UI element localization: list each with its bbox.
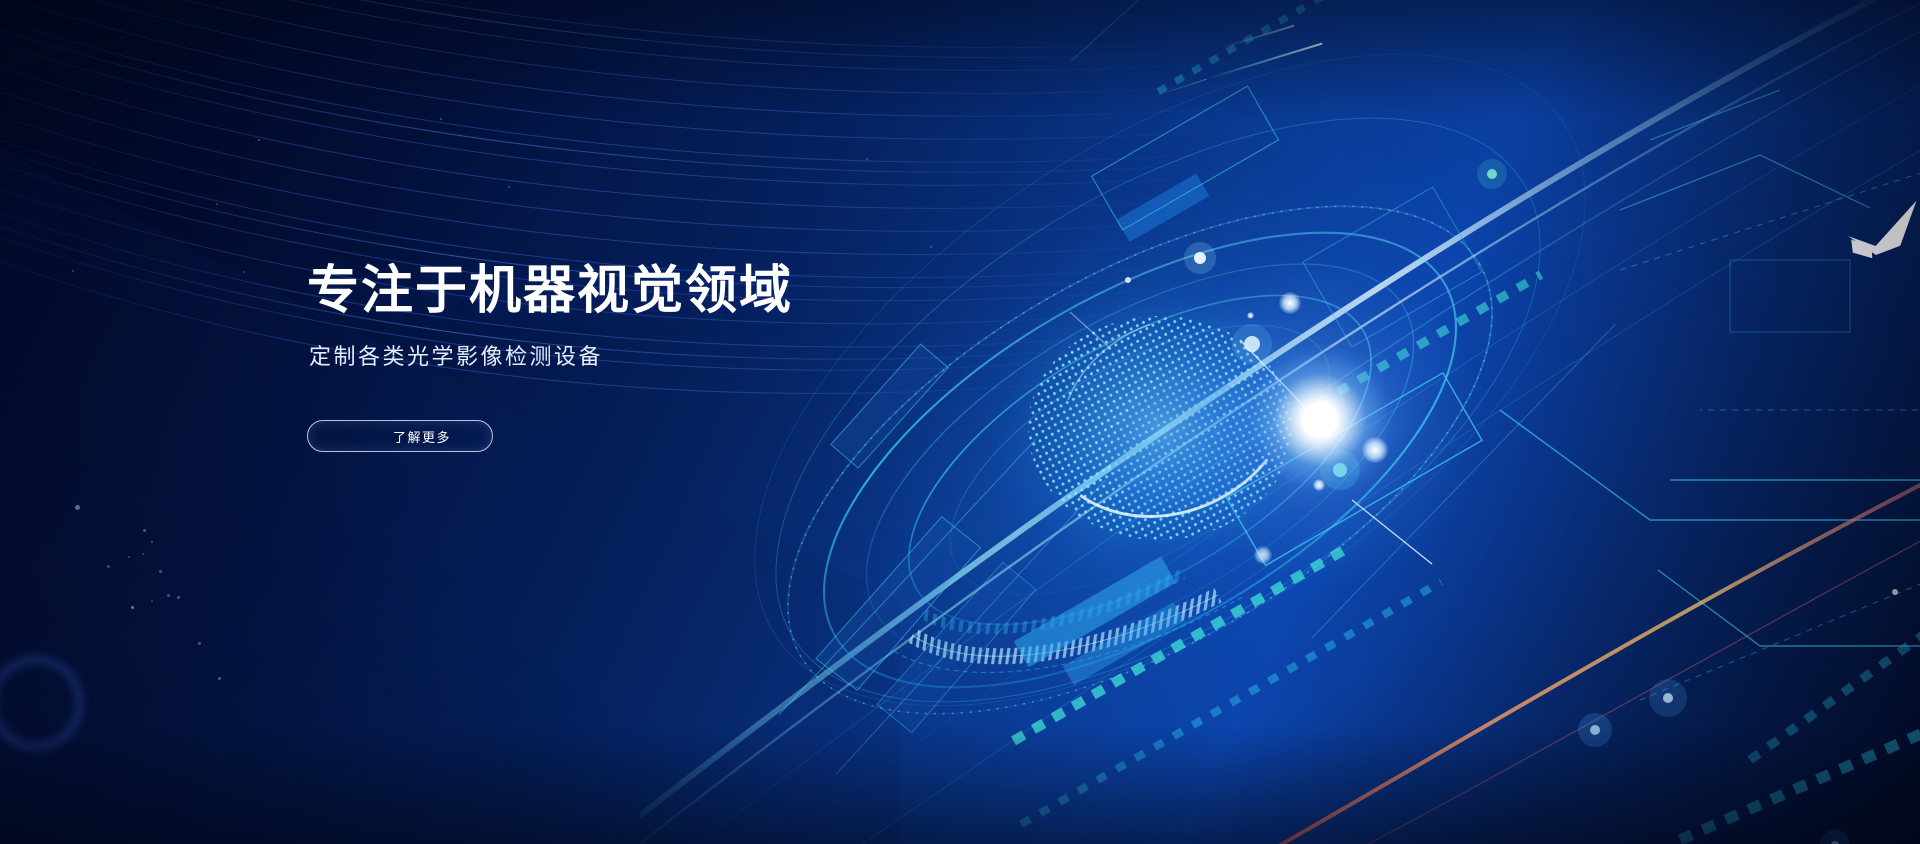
page-subtitle: 定制各类光学影像检测设备: [309, 339, 793, 371]
dust-particle: [440, 118, 442, 120]
dust-particle: [198, 642, 201, 645]
light-burst: [1245, 345, 1395, 495]
dust-particle: [151, 541, 153, 543]
dust-particle: [143, 529, 146, 532]
lens-flare: [1279, 292, 1301, 314]
dust-particle: [177, 596, 180, 599]
lens-flare: [1247, 312, 1254, 319]
dust-particle: [107, 565, 110, 568]
chevron-glyph: [1844, 201, 1920, 263]
lens-flare: [1254, 546, 1272, 564]
dust-particle: [167, 594, 170, 597]
dust-particle: [159, 570, 162, 573]
dust-particle: [128, 556, 130, 558]
dust-particle: [508, 186, 510, 188]
lens-flare: [1362, 437, 1388, 463]
dust-particle: [131, 606, 134, 609]
dust-particle: [216, 203, 218, 205]
dust-particle: [75, 505, 80, 510]
lens-flare: [1313, 479, 1325, 491]
dust-particle: [142, 553, 144, 555]
dust-particle: [243, 271, 245, 273]
learn-more-button[interactable]: 了解更多: [307, 420, 493, 452]
dust-particle: [258, 139, 260, 141]
dust-particle: [218, 677, 221, 680]
dust-particle: [72, 270, 74, 272]
page-title: 专注于机器视觉领域: [307, 262, 793, 320]
hero-banner: 专注于机器视觉领域 定制各类光学影像检测设备 了解更多: [0, 0, 1920, 844]
dust-particle: [151, 600, 153, 602]
learn-more-label: 了解更多: [393, 427, 451, 446]
hero-content: 专注于机器视觉领域 定制各类光学影像检测设备 了解更多: [307, 262, 793, 452]
